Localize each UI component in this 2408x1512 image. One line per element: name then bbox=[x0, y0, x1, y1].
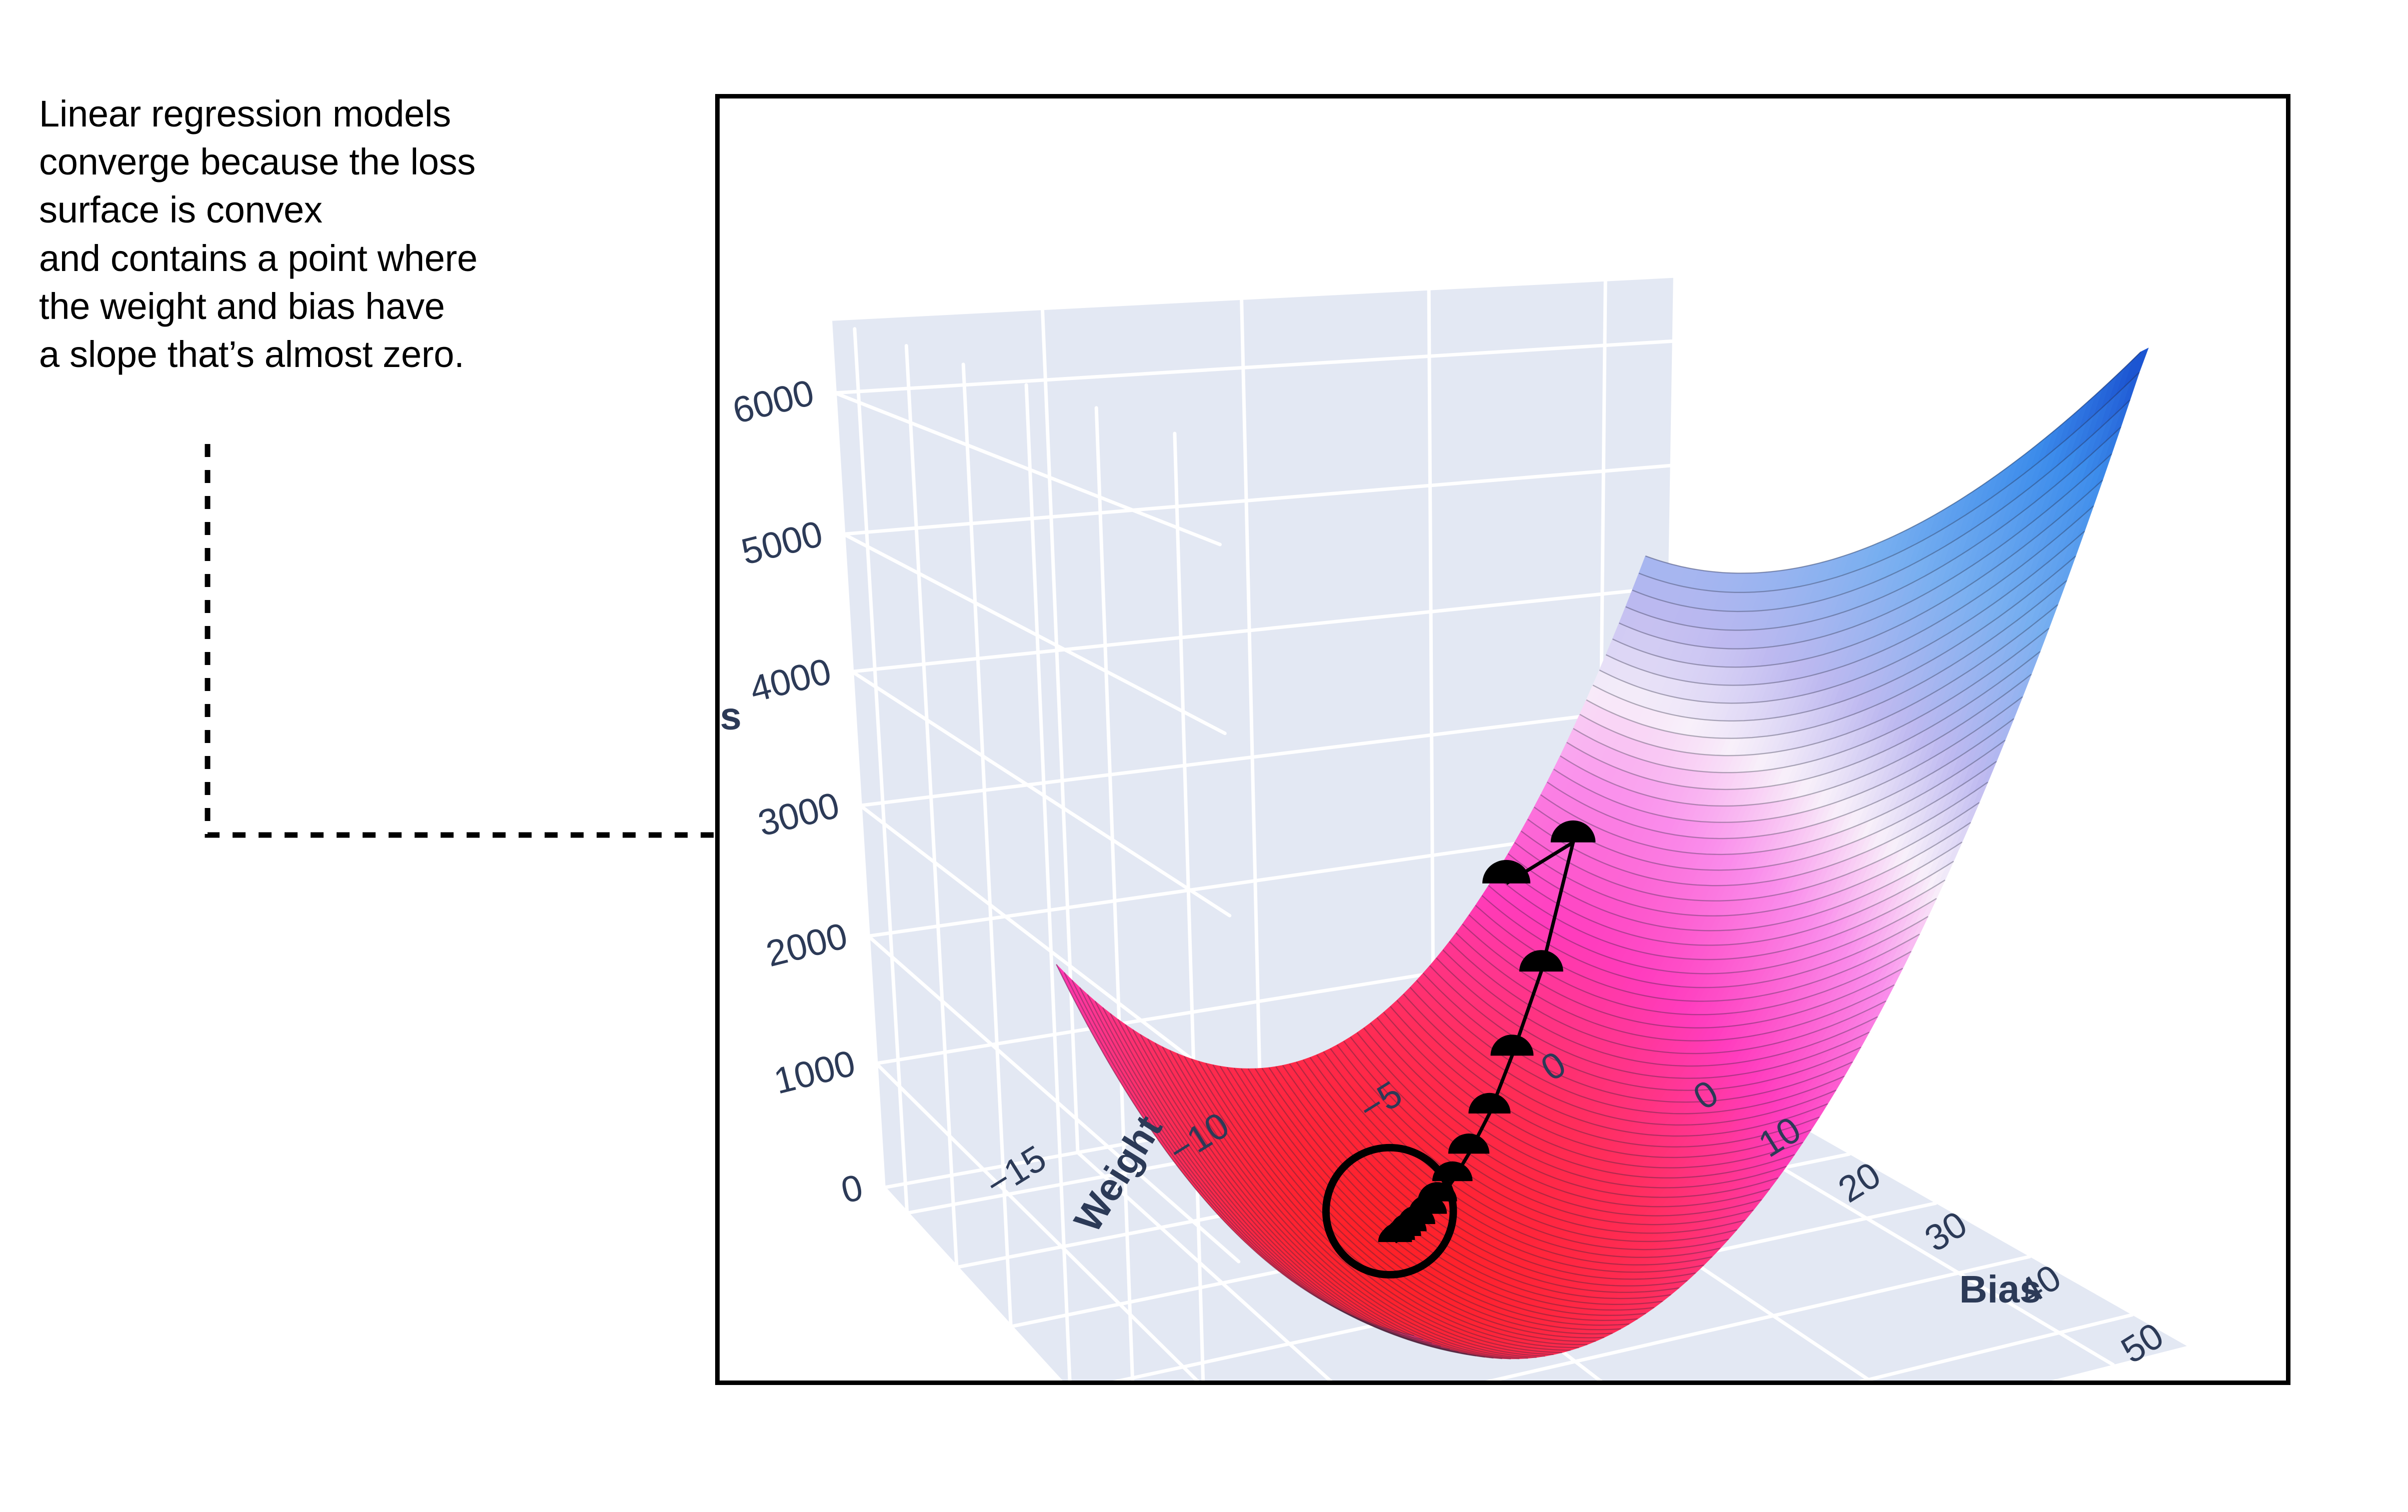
tick-label: 3000 bbox=[754, 784, 844, 844]
tick-label: 5000 bbox=[737, 512, 827, 572]
tick-label: 4000 bbox=[746, 650, 835, 710]
tick-label: 0 bbox=[837, 1166, 867, 1211]
annotation-text: Linear regression models converge becaus… bbox=[39, 90, 689, 378]
loss-surface-3d-plot: 0100020003000400050006000Loss−15−10−50We… bbox=[720, 98, 2286, 1380]
chart-frame: 0100020003000400050006000Loss−15−10−50We… bbox=[715, 94, 2290, 1385]
tick-label: 1000 bbox=[770, 1042, 859, 1102]
tick-label: 2000 bbox=[762, 914, 852, 974]
tick-label: 6000 bbox=[729, 371, 818, 431]
tick-label: Loss bbox=[720, 695, 742, 738]
tick-label: Bias bbox=[1959, 1268, 2041, 1311]
